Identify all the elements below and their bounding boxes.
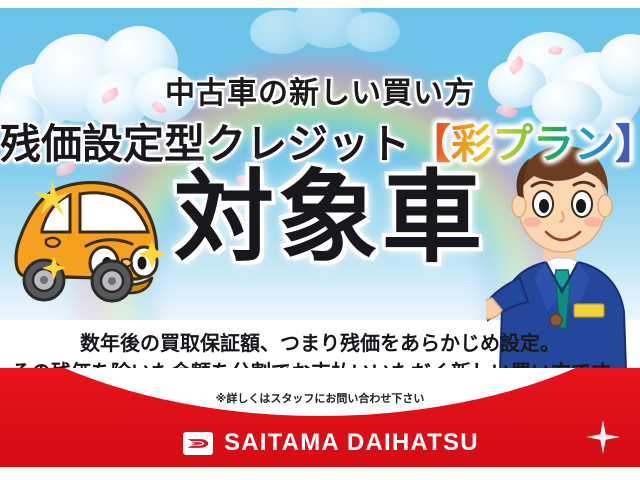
description-line-1: 数年後の買取保証額、つまり残価をあらかじめ設定。 — [0, 330, 640, 359]
subtitle-line-2: 残価設定型クレジット【彩プラン】 — [0, 110, 640, 170]
top-white-strip — [0, 0, 640, 8]
daihatsu-d-mark-icon — [183, 432, 213, 455]
plan-name-rainbow: 【彩プラン】 — [410, 121, 640, 167]
disclaimer-note: ※詳しくはスタッフにお問い合わせ下さい — [0, 390, 640, 406]
page-title: 対象車 — [120, 168, 540, 268]
subtitle-line-1: 中古車の新しい買い方 — [0, 68, 640, 112]
cloud-center — [250, 8, 400, 54]
plan-name-black: 残価設定型クレジット — [0, 121, 410, 167]
dealer-name: SAITAMA DAIHATSU — [224, 429, 479, 457]
bottom-white-strip — [0, 467, 640, 480]
promotional-banner: 中古車の新しい買い方 残価設定型クレジット【彩プラン】 対象車 数年後の買取保証… — [0, 0, 640, 480]
dealer-logo: SAITAMA DAIHATSU — [183, 429, 479, 457]
